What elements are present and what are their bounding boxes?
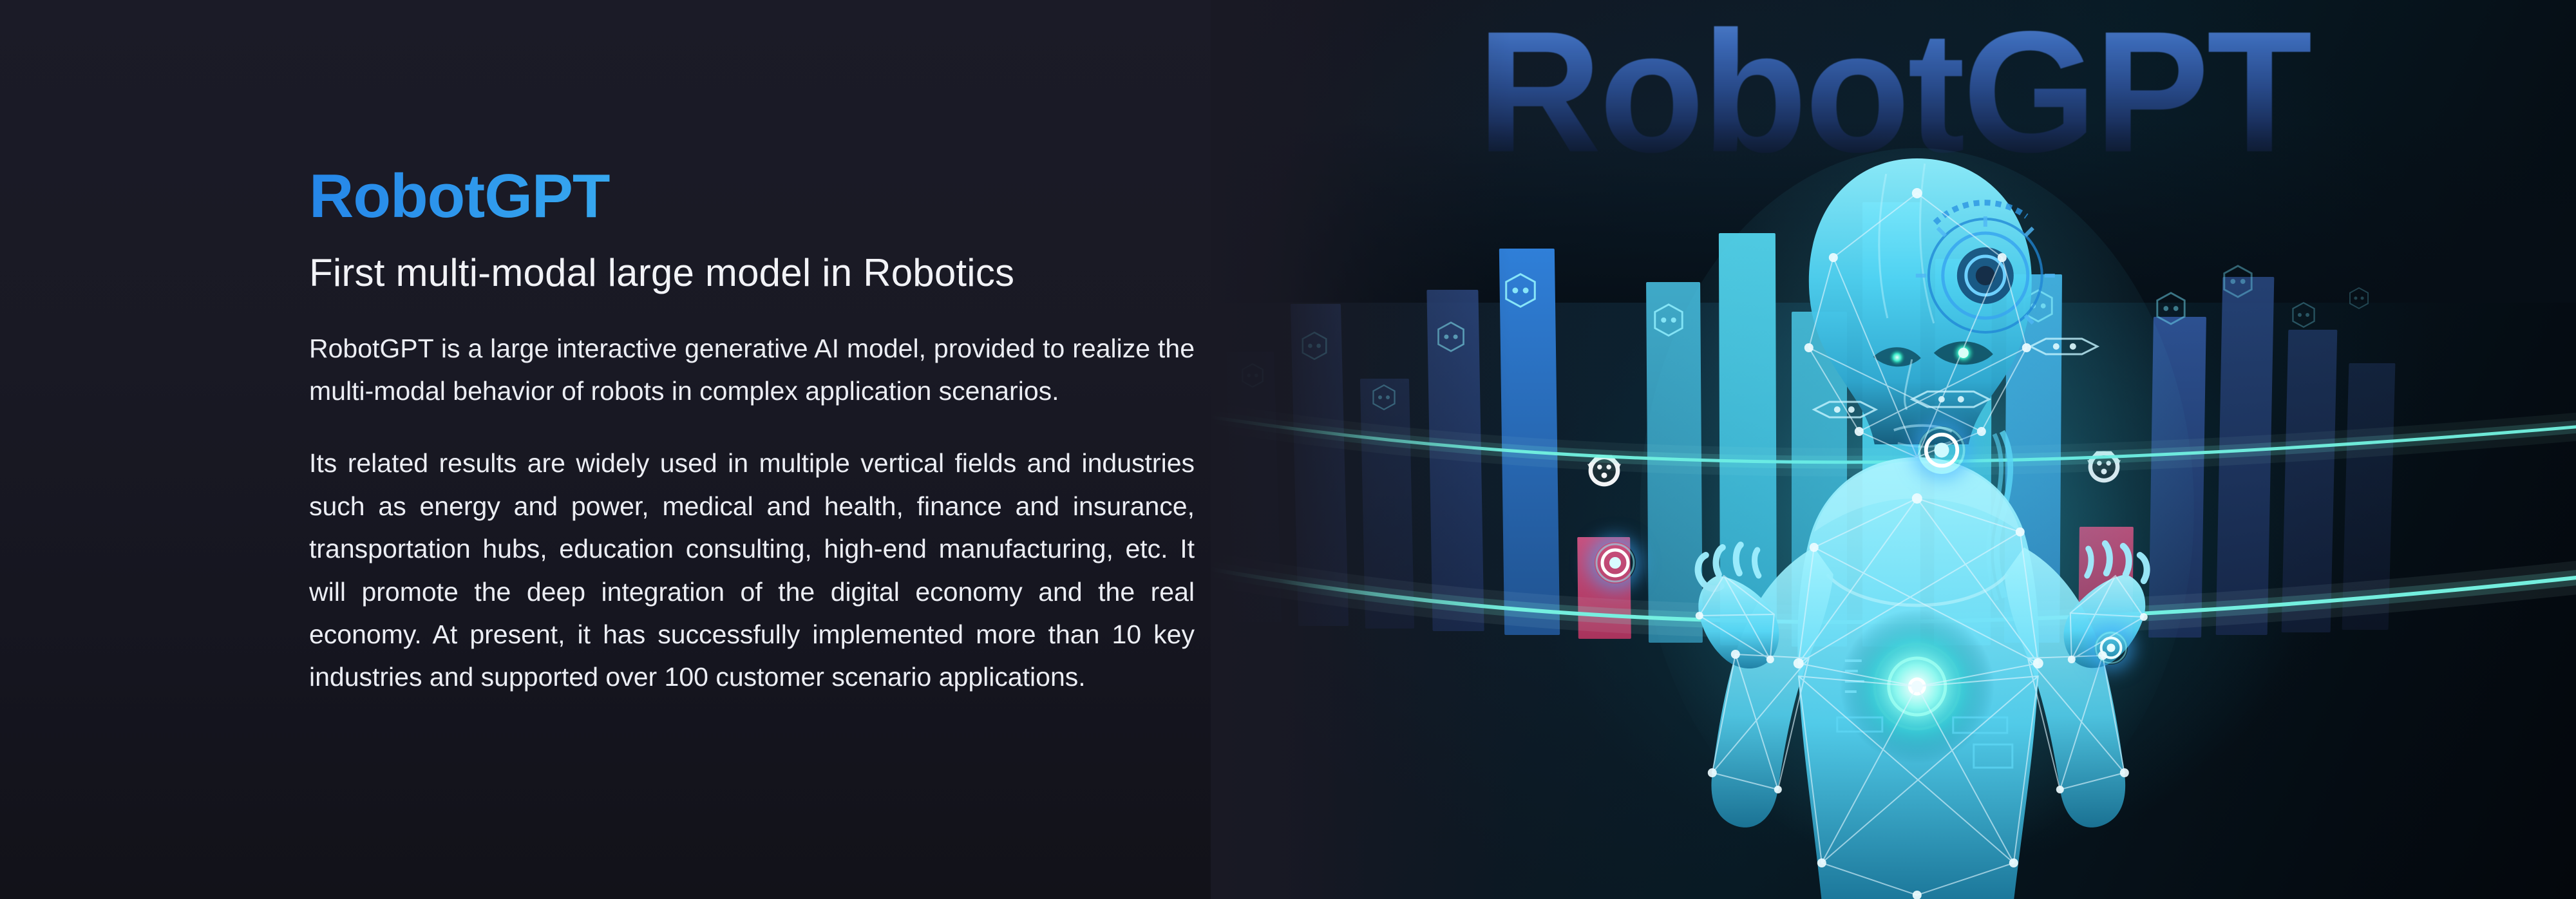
- hero-copy: RobotGPT First multi-modal large model i…: [309, 164, 1224, 699]
- chart-bar: [2216, 277, 2275, 635]
- hero-tagline: First multi-modal large model in Robotic…: [309, 251, 1224, 296]
- chart-bar: [2282, 330, 2338, 632]
- robot-head-icon: [1501, 272, 1540, 309]
- robot-head-icon: [1369, 384, 1398, 411]
- page-title: RobotGPT: [309, 164, 1224, 229]
- robot-head-icon: [2219, 264, 2257, 299]
- glow-ring-icon: [2094, 631, 2128, 665]
- robot-head-icon: [1434, 321, 1468, 353]
- hero-artwork: RobotGPT: [1211, 0, 2576, 899]
- hero-paragraph-2: Its related results are widely used in m…: [309, 442, 1195, 698]
- glow-ring-icon: [1918, 426, 1965, 474]
- chart-bar: [2342, 363, 2396, 630]
- chart-bar: [1360, 379, 1414, 629]
- robotgpt-hero-banner: RobotGPT: [0, 0, 2576, 899]
- robot-head-icon: [1298, 331, 1331, 361]
- robot-head-icon: [1239, 363, 1267, 388]
- robot-head-icon: [2289, 301, 2318, 328]
- glow-ring-icon: [1595, 542, 1636, 583]
- holographic-robot-figure: [1621, 97, 2213, 899]
- chart-bar: [1226, 352, 1282, 622]
- robot-torso: [1797, 457, 2039, 899]
- robot-head-icon: [2347, 287, 2371, 310]
- hero-paragraph-1: RobotGPT is a large interactive generati…: [309, 327, 1195, 413]
